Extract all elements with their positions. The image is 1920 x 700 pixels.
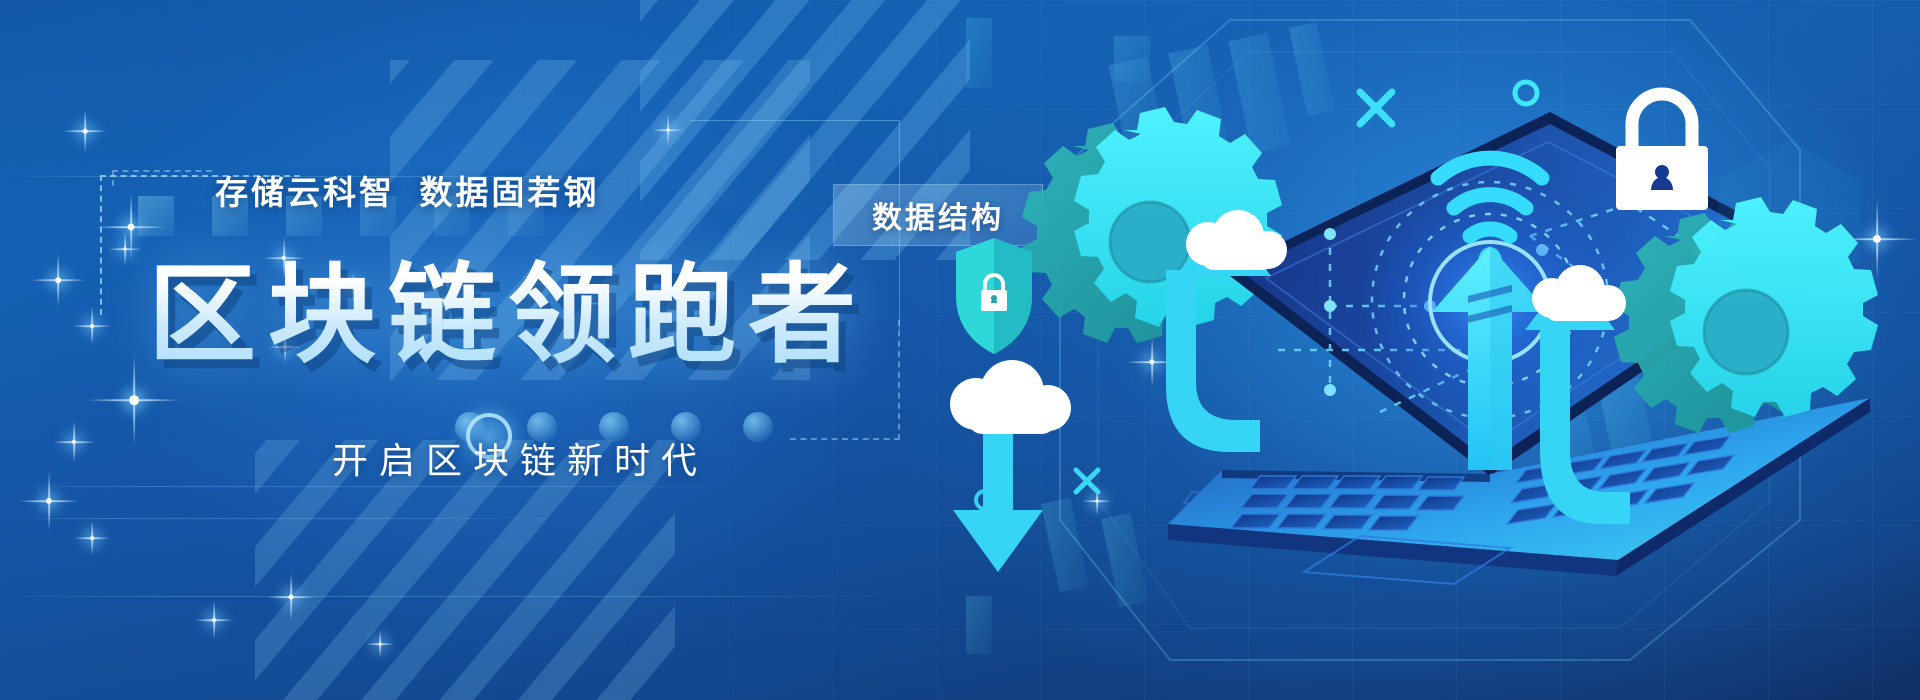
illustration (930, 0, 1920, 700)
text-block: 存储云科智 数据固若钢 区块链领跑者 开启区块链新时代 (0, 0, 900, 700)
padlock-icon (1616, 94, 1708, 210)
subtitle: 存储云科智 数据固若钢 (215, 166, 599, 214)
circle-accent-top (1515, 82, 1537, 104)
banner-root: 存储云科智 数据固若钢 区块链领跑者 开启区块链新时代 数据结构 (0, 0, 1920, 700)
shield-lock-icon (956, 238, 1032, 354)
page-title: 区块链领跑者 (148, 228, 868, 384)
cloud-icon-bottom (950, 360, 1071, 434)
tagline: 开启区块链新时代 (332, 432, 708, 484)
